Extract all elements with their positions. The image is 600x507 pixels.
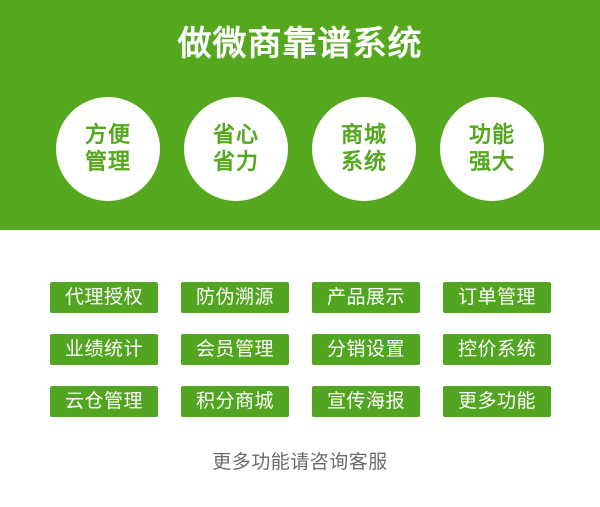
feature-tag-grid: 代理授权 防伪溯源 产品展示 订单管理 业绩统计 会员管理 分销设置 控价系统 … xyxy=(50,282,550,417)
highlight-circle-3-line1: 商城 xyxy=(341,122,387,149)
feature-tag[interactable]: 产品展示 xyxy=(312,282,420,313)
feature-tag[interactable]: 订单管理 xyxy=(443,282,551,313)
highlight-circle-1-line1: 方便 xyxy=(85,122,131,149)
page-title: 做微商靠谱系统 xyxy=(0,22,600,66)
hero-banner: 做微商靠谱系统 方便 管理 省心 省力 商城 系统 功能 强大 xyxy=(0,0,600,230)
feature-tag[interactable]: 宣传海报 xyxy=(312,386,420,417)
highlight-circle-2-line1: 省心 xyxy=(213,122,259,149)
feature-tag[interactable]: 控价系统 xyxy=(443,334,551,365)
highlight-circle-row: 方便 管理 省心 省力 商城 系统 功能 强大 xyxy=(0,97,600,201)
highlight-circle-2-line2: 省力 xyxy=(213,149,259,176)
feature-tag[interactable]: 积分商城 xyxy=(181,386,289,417)
highlight-circle-3: 商城 系统 xyxy=(312,97,416,201)
highlight-circle-4: 功能 强大 xyxy=(440,97,544,201)
highlight-circle-2: 省心 省力 xyxy=(184,97,288,201)
footer-note: 更多功能请咨询客服 xyxy=(0,449,600,475)
feature-tag[interactable]: 云仓管理 xyxy=(50,386,158,417)
feature-tag[interactable]: 防伪溯源 xyxy=(181,282,289,313)
feature-tag[interactable]: 业绩统计 xyxy=(50,334,158,365)
feature-tag[interactable]: 会员管理 xyxy=(181,334,289,365)
highlight-circle-3-line2: 系统 xyxy=(341,149,387,176)
feature-tag[interactable]: 分销设置 xyxy=(312,334,420,365)
feature-tag[interactable]: 更多功能 xyxy=(443,386,551,417)
highlight-circle-1: 方便 管理 xyxy=(56,97,160,201)
highlight-circle-4-line1: 功能 xyxy=(469,122,515,149)
highlight-circle-1-line2: 管理 xyxy=(85,149,131,176)
feature-tag[interactable]: 代理授权 xyxy=(50,282,158,313)
highlight-circle-4-line2: 强大 xyxy=(469,149,515,176)
promo-poster: 做微商靠谱系统 方便 管理 省心 省力 商城 系统 功能 强大 代理授权 防伪溯… xyxy=(0,0,600,507)
